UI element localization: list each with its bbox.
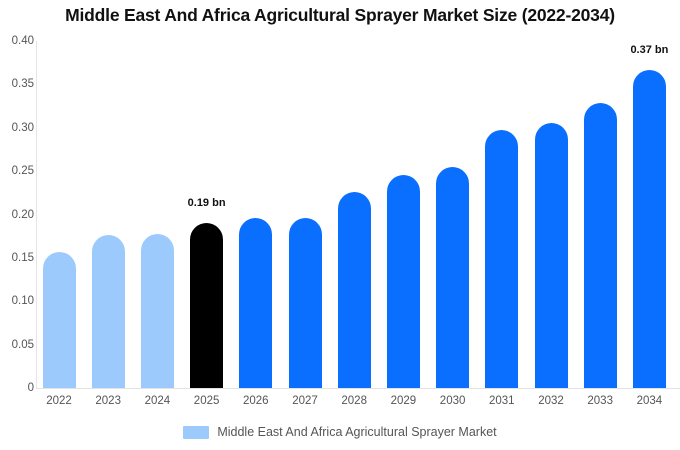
bar-group: 0.37 bn [633,41,666,388]
y-axis-tick-label: 0.15 [2,252,34,264]
y-axis: 0.400.350.300.250.200.150.100.050 [0,0,34,450]
y-axis-tick-label: 0.35 [2,78,34,90]
y-axis-tick-label: 0.30 [2,122,34,134]
bar[interactable] [485,130,518,388]
bar-group [141,41,174,388]
legend-swatch [183,426,209,439]
bar-group [485,41,518,388]
bar-group [43,41,76,388]
y-axis-tick-label: 0.20 [2,209,34,221]
bar-group [239,41,272,388]
bar-group [338,41,371,388]
bar[interactable] [43,252,76,388]
x-axis-line [36,388,680,389]
bar[interactable] [141,234,174,388]
bar[interactable] [387,175,420,388]
y-axis-tick-label: 0.25 [2,165,34,177]
bar-group [535,41,568,388]
bar[interactable] [289,218,322,388]
bar[interactable] [190,223,223,388]
bar[interactable] [239,218,272,388]
bar-group [92,41,125,388]
bar[interactable] [584,103,617,388]
chart-legend: Middle East And Africa Agricultural Spra… [0,425,680,439]
bar-value-label: 0.19 bn [188,197,226,209]
x-axis-tick-label: 2034 [619,395,679,407]
bar-value-label: 0.37 bn [630,44,668,56]
bar[interactable] [436,167,469,388]
y-axis-tick-label: 0 [2,382,34,394]
bar-group [584,41,617,388]
chart-container: Middle East And Africa Agricultural Spra… [0,0,680,450]
bar-group: 0.19 bn [190,41,223,388]
bar[interactable] [633,70,666,388]
bar-group [387,41,420,388]
bar[interactable] [92,235,125,388]
chart-title: Middle East And Africa Agricultural Spra… [0,5,680,26]
plot-area: 0.19 bn0.37 bn [36,41,680,388]
legend-label: Middle East And Africa Agricultural Spra… [217,425,496,439]
y-axis-tick-label: 0.40 [2,35,34,47]
bar-group [436,41,469,388]
bar[interactable] [338,192,371,388]
y-axis-tick-label: 0.10 [2,295,34,307]
y-axis-tick-label: 0.05 [2,339,34,351]
bar[interactable] [535,123,568,388]
bar-group [289,41,322,388]
